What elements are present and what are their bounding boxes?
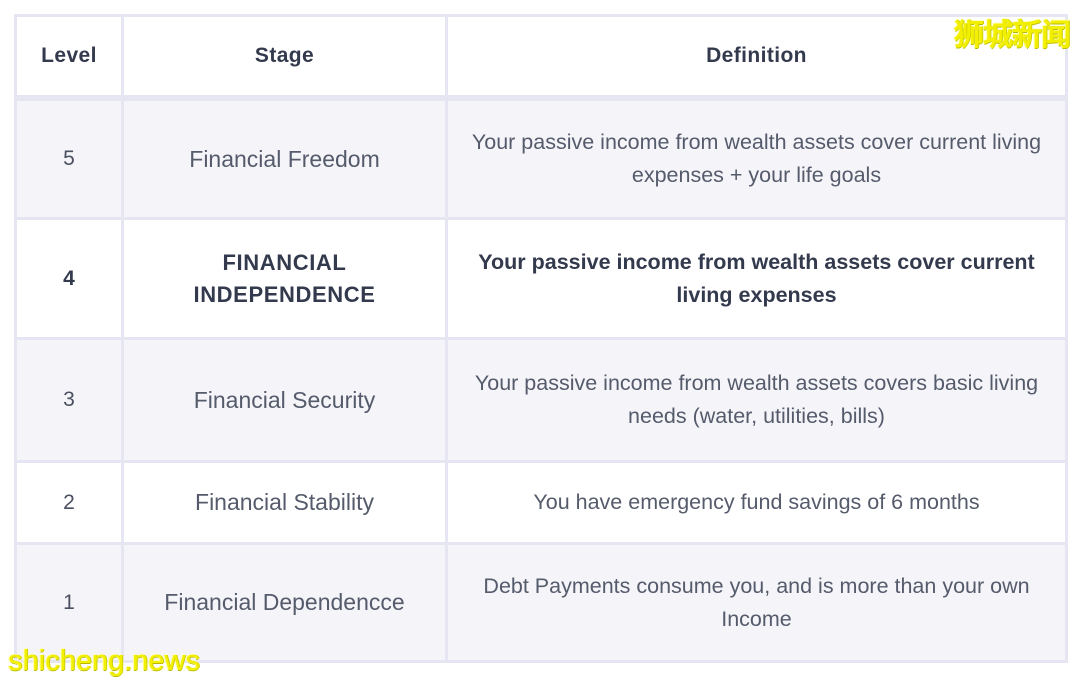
cell-definition: Your passive income from wealth assets c… — [448, 340, 1068, 463]
financial-stages-table: Level Stage Definition 5 Financial Freed… — [14, 14, 1068, 663]
cell-definition: Debt Payments consume you, and is more t… — [448, 545, 1068, 663]
table-header-row: Level Stage Definition — [14, 14, 1068, 98]
financial-stages-table-container: Level Stage Definition 5 Financial Freed… — [14, 14, 1068, 666]
table-row: 1 Financial Dependencce Debt Payments co… — [14, 545, 1068, 663]
cell-stage: Financial Security — [124, 340, 448, 463]
column-header-definition: Definition — [448, 14, 1068, 98]
cell-stage: Financial Stability — [124, 463, 448, 545]
cell-definition: Your passive income from wealth assets c… — [448, 220, 1068, 340]
cell-level: 3 — [14, 340, 124, 463]
table-body: 5 Financial Freedom Your passive income … — [14, 98, 1068, 663]
table-row: 5 Financial Freedom Your passive income … — [14, 98, 1068, 220]
cell-level: 4 — [14, 220, 124, 340]
cell-level: 5 — [14, 98, 124, 220]
column-header-stage: Stage — [124, 14, 448, 98]
cell-stage: Financial Freedom — [124, 98, 448, 220]
cell-stage: FINANCIAL INDEPENDENCE — [124, 220, 448, 340]
table-page: Level Stage Definition 5 Financial Freed… — [0, 0, 1080, 682]
cell-definition: Your passive income from wealth assets c… — [448, 98, 1068, 220]
column-header-level: Level — [14, 14, 124, 98]
table-row: 2 Financial Stability You have emergency… — [14, 463, 1068, 545]
cell-level: 2 — [14, 463, 124, 545]
table-header: Level Stage Definition — [14, 14, 1068, 98]
table-row: 4 FINANCIAL INDEPENDENCE Your passive in… — [14, 220, 1068, 340]
cell-stage: Financial Dependencce — [124, 545, 448, 663]
table-row: 3 Financial Security Your passive income… — [14, 340, 1068, 463]
cell-definition: You have emergency fund savings of 6 mon… — [448, 463, 1068, 545]
cell-level: 1 — [14, 545, 124, 663]
